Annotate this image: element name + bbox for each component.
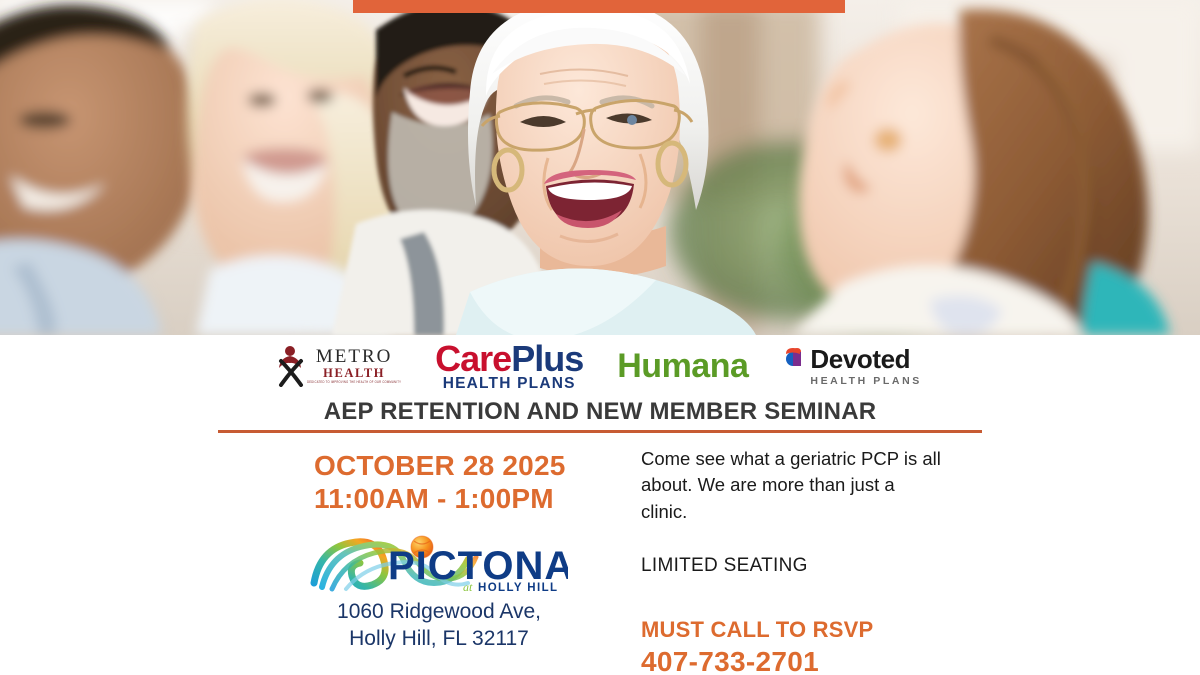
sponsor-logo-strip: METRO HEALTH DEDICATED TO IMPROVING THE … [0,335,1200,397]
metro-health-figure-icon [278,345,304,387]
metro-health-word-health: HEALTH [323,367,385,380]
hero-photo [0,0,1200,335]
careplus-subtitle: HEALTH PLANS [443,376,576,392]
humana-logo: Humana [617,349,748,383]
devoted-subtitle: HEALTH PLANS [810,376,922,387]
rsvp-label: MUST CALL TO RSVP [641,617,941,643]
metro-health-word-metro: METRO [316,347,393,366]
rsvp-phone-number[interactable]: 407-733-2701 [641,646,941,675]
event-description: Come see what a geriatric PCP is all abo… [641,446,941,525]
page-title: AEP RETENTION AND NEW MEMBER SEMINAR [0,398,1200,426]
careplus-word-plus: Plus [511,338,583,379]
careplus-logo: CarePlus HEALTH PLANS [435,341,583,392]
careplus-word-care: Care [435,338,511,379]
svg-text:HOLLY HILL: HOLLY HILL [478,582,558,594]
metro-health-tagline: DEDICATED TO IMPROVING THE HEALTH OF OUR… [307,382,401,385]
divider-rule [218,430,982,433]
devoted-wordmark: Devoted [810,346,910,372]
metro-health-logo: METRO HEALTH DEDICATED TO IMPROVING THE … [278,343,401,389]
devoted-heart-icon [782,348,804,370]
event-time: 11:00AM - 1:00PM [314,483,614,516]
venue-address-line2: Holly Hill, FL 32117 [310,626,568,653]
devoted-logo: Devoted HEALTH PLANS [782,346,922,387]
event-datetime-block: OCTOBER 28 2025 11:00AM - 1:00PM [314,450,614,516]
hero-photo-illustration [0,0,1200,335]
pictona-logo: PICTONA at HOLLY HILL [310,533,568,595]
venue-address-line1: 1060 Ridgewood Ave, [310,599,568,626]
event-date: OCTOBER 28 2025 [314,450,614,483]
venue-address: 1060 Ridgewood Ave, Holly Hill, FL 32117 [310,599,568,653]
svg-text:at: at [463,580,473,594]
event-flyer: METRO HEALTH DEDICATED TO IMPROVING THE … [0,0,1200,675]
limited-seating-note: LIMITED SEATING [641,555,941,577]
venue-block: PICTONA at HOLLY HILL 1060 Ridgewood Ave… [310,533,580,653]
event-details-block: Come see what a geriatric PCP is all abo… [641,446,941,675]
top-accent-bar [353,0,845,13]
